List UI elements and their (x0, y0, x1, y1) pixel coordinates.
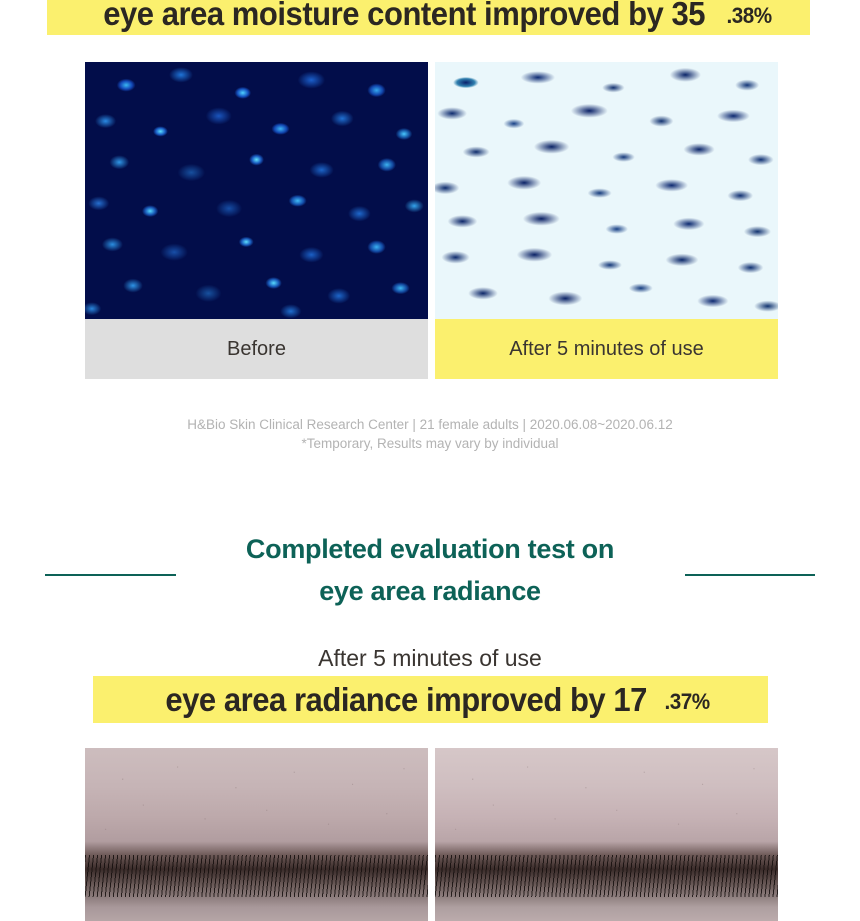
moisture-after-column (435, 62, 778, 319)
radiance-before-column (85, 748, 428, 921)
moisture-image-row (85, 62, 778, 319)
claim-banner-radiance: eye area radiance improved by 17.37% (93, 676, 768, 723)
claim-banner-moisture: eye area moisture content improved by 35… (47, 0, 810, 35)
eyelash-texture-before (85, 855, 428, 897)
moisture-label-row: Before After 5 minutes of use (85, 319, 778, 379)
section-heading: Completed evaluation test on eye area ra… (0, 528, 860, 612)
label-after: After 5 minutes of use (435, 319, 778, 379)
fluorescence-after-image (435, 62, 778, 319)
radiance-image-row (85, 748, 778, 921)
promo-page: eye area moisture content improved by 35… (0, 0, 860, 921)
section-heading-line-1: Completed evaluation test on (0, 528, 860, 570)
footnote-line-2: *Temporary, Results may vary by individu… (0, 434, 860, 453)
clinical-footnote: H&Bio Skin Clinical Research Center | 21… (0, 415, 860, 453)
moisture-comparison-figure: Before After 5 minutes of use (85, 62, 778, 379)
moisture-before-label-wrap: Before (85, 319, 428, 379)
eye-photo-before (85, 748, 428, 921)
fluorescence-before-image (85, 62, 428, 319)
claim-moisture-percent: .38% (726, 5, 771, 27)
label-before: Before (85, 319, 428, 379)
photo-divider (428, 748, 435, 921)
eyelash-texture-after (435, 855, 778, 897)
claim-moisture-text: eye area moisture content improved by 35 (104, 0, 706, 30)
footnote-line-1: H&Bio Skin Clinical Research Center | 21… (0, 415, 860, 434)
eye-photo-after (435, 748, 778, 921)
radiance-comparison-figure (85, 748, 778, 921)
label-divider (428, 319, 435, 379)
radiance-sub-caption: After 5 minutes of use (0, 645, 860, 672)
radiance-after-column (435, 748, 778, 921)
moisture-after-label-wrap: After 5 minutes of use (435, 319, 778, 379)
section-heading-line-2: eye area radiance (0, 570, 860, 612)
column-divider (428, 62, 435, 319)
moisture-before-column (85, 62, 428, 319)
claim-radiance-text: eye area radiance improved by 17 (166, 683, 648, 716)
claim-radiance-percent: .37% (664, 691, 709, 713)
